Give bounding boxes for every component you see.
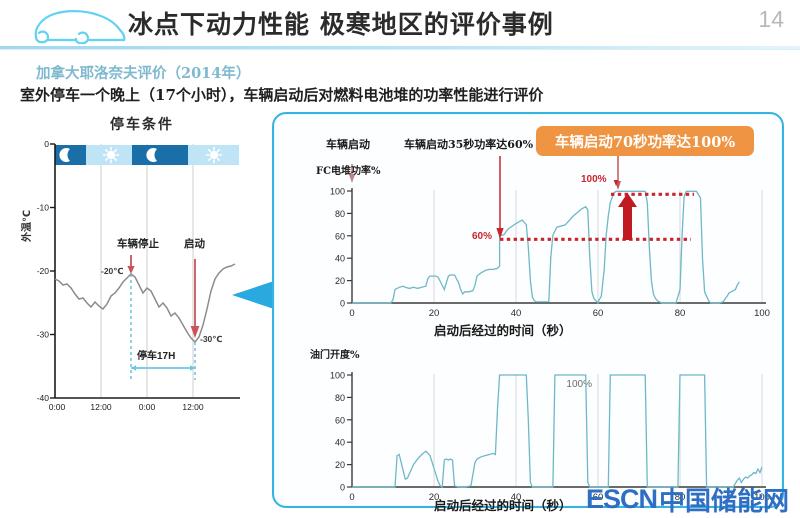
- svg-text:0:00: 0:00: [139, 402, 156, 412]
- sun-icon: [207, 148, 222, 163]
- svg-text:0: 0: [44, 139, 49, 149]
- left-chart-plot: 0 -10 -20 -30 -40 0:00 12:00 0:00 12:00: [24, 112, 259, 412]
- svg-text:12:00: 12:00: [90, 402, 112, 412]
- page-number: 14: [758, 6, 784, 33]
- slide-root: 冰点下动力性能 极寒地区的评价事例 14 加拿大耶洛奈夫评价（2014年） 室外…: [0, 0, 800, 518]
- label-60-percent: 60%: [472, 231, 492, 242]
- svg-text:80: 80: [675, 492, 686, 502]
- car-outline-logo: [32, 6, 128, 44]
- svg-text:100: 100: [754, 308, 770, 319]
- svg-text:80: 80: [335, 393, 345, 403]
- svg-text:20: 20: [335, 276, 345, 286]
- left-chart-parking-conditions: 停车条件 外温℃: [24, 112, 259, 412]
- svg-text:20: 20: [429, 308, 440, 319]
- label-35s-60pct: 车辆启动35秒功率达60%: [404, 136, 533, 152]
- svg-text:60: 60: [593, 492, 604, 502]
- svg-text:60: 60: [335, 415, 345, 425]
- svg-text:0:00: 0:00: [49, 402, 66, 412]
- annotation-temp-start: -30℃: [200, 334, 223, 345]
- svg-text:100: 100: [330, 187, 345, 197]
- label-throttle-opening-axis: 油门开度%: [310, 346, 360, 361]
- slide-header: 冰点下动力性能 极寒地区的评价事例 14: [0, 0, 800, 48]
- annotation-startup: 启动: [184, 236, 205, 251]
- subheading-line-1: 加拿大耶洛奈夫评价（2014年）: [36, 62, 250, 83]
- annotation-park-duration: 停车17H: [137, 347, 175, 362]
- svg-text:80: 80: [675, 308, 686, 319]
- header-divider-thin: [0, 49, 800, 50]
- page-title: 冰点下动力性能 极寒地区的评价事例: [128, 8, 554, 42]
- svg-text:40: 40: [511, 308, 522, 319]
- svg-text:0: 0: [340, 483, 345, 493]
- top-chart-x-axis-label: 启动后经过的时间（秒）: [434, 320, 572, 339]
- svg-text:60: 60: [593, 308, 604, 319]
- up-arrow-icon: [618, 193, 637, 240]
- label-vehicle-start: 车辆启动: [326, 136, 370, 152]
- annotation-vehicle-stop: 车辆停止: [117, 236, 159, 251]
- svg-text:40: 40: [335, 438, 345, 448]
- annotation-temp-stop: -20℃: [101, 266, 124, 277]
- svg-text:12:00: 12:00: [182, 402, 204, 412]
- svg-text:100: 100: [330, 371, 345, 381]
- svg-text:20: 20: [335, 460, 345, 470]
- subheading-line-2: 室外停车一个晚上（17个小时），车辆启动后对燃料电池堆的功率性能进行评价: [20, 84, 543, 105]
- label-fc-stack-power-axis: FC电堆功率%: [316, 162, 381, 177]
- svg-text:40: 40: [335, 254, 345, 264]
- svg-text:0: 0: [349, 308, 354, 319]
- sun-icon: [104, 148, 119, 163]
- bottom-chart-x-axis-label: 启动后经过的时间（秒）: [434, 495, 572, 514]
- svg-text:0: 0: [349, 492, 354, 502]
- svg-text:80: 80: [335, 209, 345, 219]
- right-panel: 车辆启动70秒功率达100% 100: [272, 112, 784, 508]
- svg-text:0: 0: [340, 299, 345, 309]
- svg-text:-20: -20: [37, 266, 50, 276]
- throttle-100-label: 100%: [566, 379, 592, 390]
- label-100-percent: 100%: [581, 174, 607, 185]
- svg-text:-40: -40: [37, 393, 50, 403]
- blue-pointer-arrow: [232, 278, 276, 312]
- svg-text:100: 100: [754, 492, 770, 502]
- svg-text:-30: -30: [37, 330, 50, 340]
- svg-text:-10: -10: [37, 203, 50, 213]
- svg-text:60: 60: [335, 231, 345, 241]
